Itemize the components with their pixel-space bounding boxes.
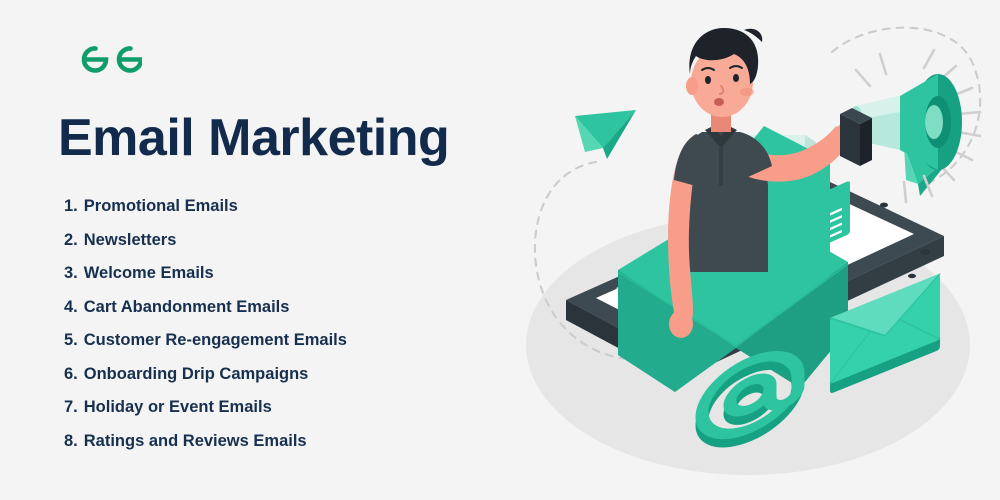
list-item-label: Newsletters [84,232,177,249]
list-item-number: 2. [64,232,78,249]
list-item: 5. Customer Re-engagement Emails [64,332,494,366]
page-title: Email Marketing [58,112,449,164]
list-item-number: 7. [64,399,78,416]
list-item: 1. Promotional Emails [64,198,494,232]
poster-root: Email Marketing 1. Promotional Emails 2.… [0,0,1000,500]
list-item-label: Customer Re-engagement Emails [84,332,347,349]
list-item: 3. Welcome Emails [64,265,494,299]
list-item-label: Welcome Emails [84,265,214,282]
list-item-number: 5. [64,332,78,349]
person-eye-right [733,74,739,82]
list-item-number: 8. [64,433,78,450]
paper-plane-left [575,110,636,159]
list-item: 2. Newsletters [64,232,494,266]
tablet-camera [880,203,888,208]
list-item-label: Onboarding Drip Campaigns [84,366,309,383]
list-item: 8. Ratings and Reviews Emails [64,433,494,467]
list-item: 7. Holiday or Event Emails [64,399,494,433]
list-item-label: Ratings and Reviews Emails [84,433,307,450]
list-item-label: Promotional Emails [84,198,238,215]
list-item: 4. Cart Abandonment Emails [64,299,494,333]
megaphone-inner-highlight [925,105,943,139]
email-marketing-illustration: New email 1 [500,0,1000,500]
list-item: 6. Onboarding Drip Campaigns [64,366,494,400]
person-left-hand [669,310,693,338]
topic-list: 1. Promotional Emails 2. Newsletters 3. … [64,198,494,466]
megaphone-handle-side [860,118,872,166]
person-ear [686,77,698,95]
list-item-number: 4. [64,299,78,316]
list-item-label: Holiday or Event Emails [84,399,272,416]
list-item-number: 3. [64,265,78,282]
person-mouth [714,98,724,106]
left-content-column: Email Marketing 1. Promotional Emails 2.… [0,0,520,500]
list-item-label: Cart Abandonment Emails [84,299,290,316]
person-eye-left [705,76,711,84]
list-item-number: 6. [64,366,78,383]
geeksforgeeks-logo[interactable] [62,36,142,76]
shirt-placket [719,148,723,186]
tablet-speaker [920,249,930,254]
list-item-number: 1. [64,198,78,215]
person-cheek [740,88,754,96]
